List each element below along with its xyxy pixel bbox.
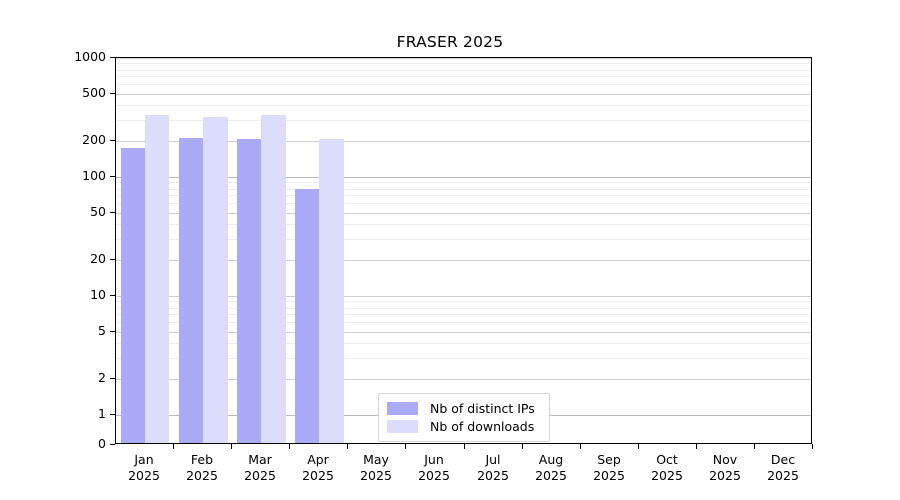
y-tick-mark [110,93,115,94]
y-tick-label: 500 [46,87,106,100]
chart-container: FRASER 2025 01251020501002005001000 Jan2… [0,0,900,500]
x-tick-mark [522,444,523,449]
bar [179,138,203,443]
x-tick-mark [173,444,174,449]
legend-swatch-icon [387,420,418,433]
x-tick-month: Dec [738,452,828,468]
y-tick-mark [110,444,115,445]
legend-item[interactable]: Nb of distinct IPs [387,399,542,417]
bar [261,115,285,443]
x-tick-mark [638,444,639,449]
chart-title: FRASER 2025 [0,33,900,51]
bar [295,189,319,443]
y-tick-mark [110,176,115,177]
x-tick-mark [231,444,232,449]
y-tick-label: 10 [46,289,106,302]
y-tick-label: 2 [46,372,106,385]
x-tick-mark [405,444,406,449]
bar [203,117,227,443]
legend-label: Nb of distinct IPs [430,401,535,416]
y-tick-label: 1000 [46,51,106,64]
y-tick-label: 1 [46,408,106,421]
y-tick-mark [110,140,115,141]
legend-swatch-icon [387,402,418,415]
bar [145,115,169,443]
x-tick-mark [347,444,348,449]
y-tick-mark [110,212,115,213]
y-tick-label: 200 [46,134,106,147]
legend-label: Nb of downloads [430,419,534,434]
x-tick-mark [464,444,465,449]
y-tick-mark [110,295,115,296]
chart-legend: Nb of distinct IPsNb of downloads [378,393,550,442]
x-tick-mark [812,444,813,449]
x-tick-mark [696,444,697,449]
y-tick-mark [110,414,115,415]
y-tick-label: 100 [46,170,106,183]
y-tick-label: 5 [46,325,106,338]
y-tick-label: 20 [46,253,106,266]
bar [319,139,343,443]
y-tick-mark [110,378,115,379]
y-tick-mark [110,331,115,332]
y-tick-mark [110,57,115,58]
bars-layer [116,58,811,443]
y-tick-mark [110,259,115,260]
y-tick-label: 0 [46,438,106,451]
x-tick-mark [754,444,755,449]
x-tick-label: Dec2025 [738,452,828,484]
bar [121,148,145,443]
x-tick-mark [580,444,581,449]
x-tick-mark [289,444,290,449]
y-tick-label: 50 [46,206,106,219]
bar [237,139,261,443]
legend-item[interactable]: Nb of downloads [387,417,542,435]
plot-area [115,57,812,444]
x-tick-year: 2025 [738,468,828,484]
